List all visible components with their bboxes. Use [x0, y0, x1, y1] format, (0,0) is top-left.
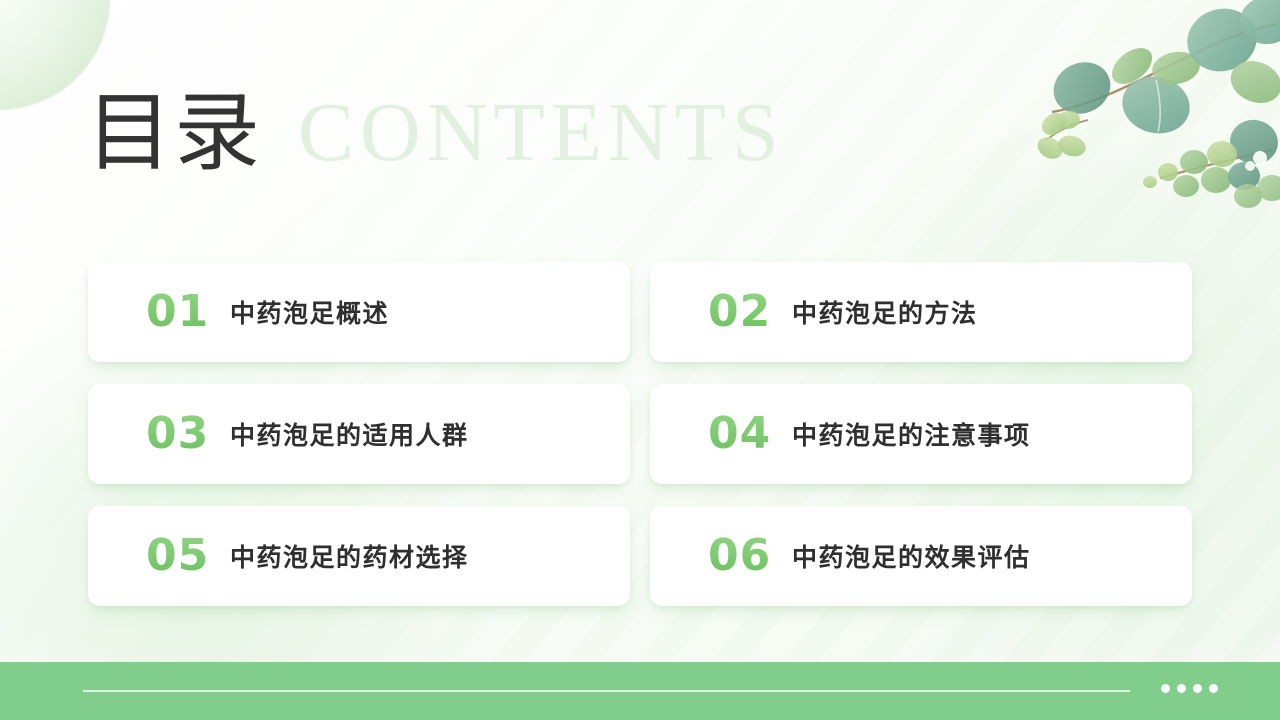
contents-item-title: 中药泡足的注意事项: [792, 416, 1031, 452]
footer-dot: [1209, 684, 1218, 693]
contents-item-number: 05: [146, 534, 230, 578]
contents-item-number: 01: [146, 290, 230, 334]
footer-divider-line: [83, 690, 1130, 692]
contents-item-number: 02: [708, 290, 792, 334]
contents-item-04[interactable]: 04 中药泡足的注意事项: [650, 384, 1192, 484]
contents-item-number: 04: [708, 412, 792, 456]
page-title-chinese: 目录: [86, 90, 262, 176]
footer-dot: [1161, 684, 1170, 693]
contents-item-number: 03: [146, 412, 230, 456]
page-title-english: CONTENTS: [298, 91, 785, 175]
contents-item-title: 中药泡足的效果评估: [792, 538, 1031, 574]
contents-item-06[interactable]: 06 中药泡足的效果评估: [650, 506, 1192, 606]
contents-item-05[interactable]: 05 中药泡足的药材选择: [88, 506, 630, 606]
contents-item-03[interactable]: 03 中药泡足的适用人群: [88, 384, 630, 484]
page-title: 目录 CONTENTS: [86, 74, 785, 192]
contents-item-02[interactable]: 02 中药泡足的方法: [650, 262, 1192, 362]
slide-canvas: 目录 CONTENTS 01 中药泡足概述 02 中药泡足的方法 03 中药泡足…: [0, 0, 1280, 720]
footer-dot: [1177, 684, 1186, 693]
contents-item-title: 中药泡足概述: [230, 294, 389, 330]
contents-item-title: 中药泡足的方法: [792, 294, 978, 330]
footer-dot: [1193, 684, 1202, 693]
contents-item-title: 中药泡足的适用人群: [230, 416, 469, 452]
eucalyptus-foliage-decoration: [1010, 0, 1280, 230]
contents-item-title: 中药泡足的药材选择: [230, 538, 469, 574]
contents-item-01[interactable]: 01 中药泡足概述: [88, 262, 630, 362]
footer-bar: [0, 662, 1280, 720]
contents-grid: 01 中药泡足概述 02 中药泡足的方法 03 中药泡足的适用人群 04 中药泡…: [88, 262, 1192, 606]
contents-item-number: 06: [708, 534, 792, 578]
footer-dots: [1161, 684, 1218, 693]
